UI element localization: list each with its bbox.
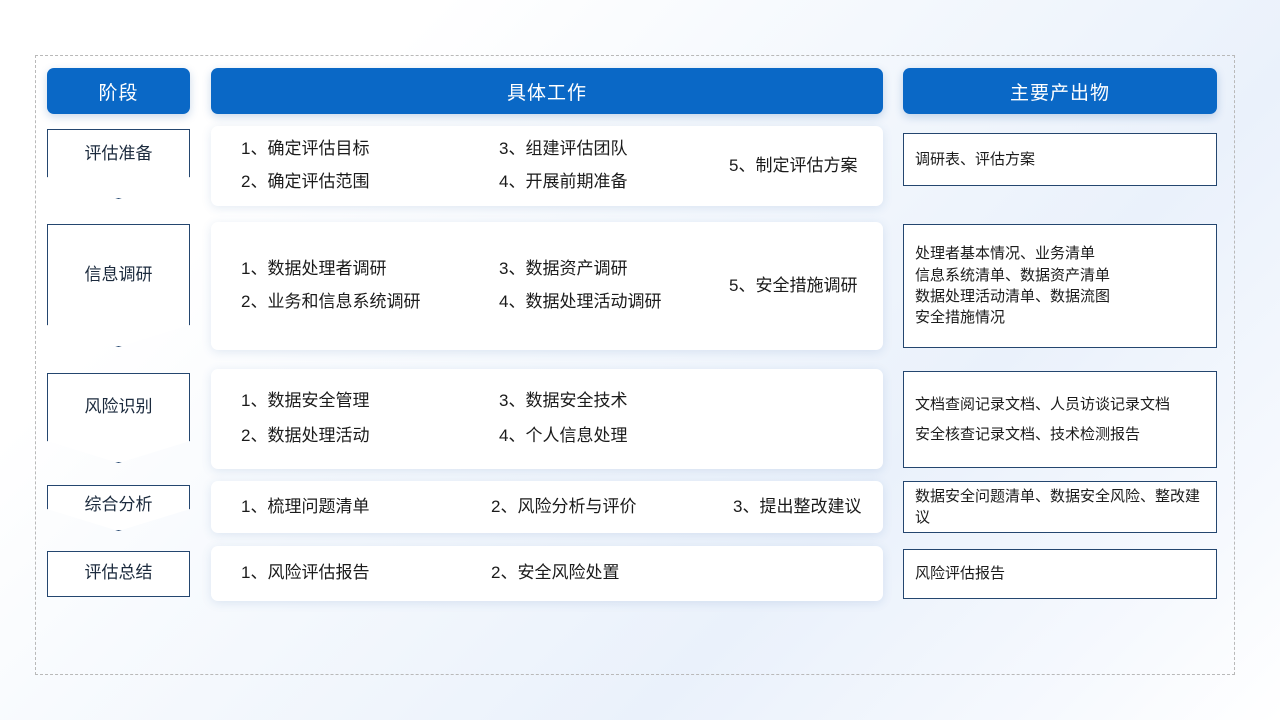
work-item: 4、数据处理活动调研 <box>499 290 721 315</box>
header-stage: 阶段 <box>47 68 190 114</box>
work-card-4: 1、梳理问题清单 2、风险分析与评价 3、提出整改建议 <box>211 481 883 533</box>
output-text: 风险评估报告 <box>915 563 1005 584</box>
work-item: 3、提出整改建议 <box>733 495 883 520</box>
work-item: 1、确定评估目标 <box>241 137 499 162</box>
work-item: 3、数据资产调研 <box>499 257 721 282</box>
work-item: 2、安全风险处置 <box>491 561 883 586</box>
work-item: 5、制定评估方案 <box>721 154 883 179</box>
output-box-3: 文档查阅记录文档、人员访谈记录文档 安全核查记录文档、技术检测报告 <box>903 371 1217 468</box>
work-item: 3、数据安全技术 <box>499 389 883 414</box>
stage-label-2: 信息调研 <box>85 224 153 283</box>
slide-canvas: 阶段 具体工作 主要产出物 评估准备 信息调研 风险识别 综合分析 评估总结 1… <box>0 0 1280 720</box>
stage-box-2: 信息调研 <box>47 224 190 347</box>
work-item: 4、开展前期准备 <box>499 170 721 195</box>
work-card-1: 1、确定评估目标 2、确定评估范围 3、组建评估团队 4、开展前期准备 5、制定… <box>211 126 883 206</box>
work-item: 1、数据安全管理 <box>241 389 499 414</box>
work-grid-2: 1、数据处理者调研 2、业务和信息系统调研 3、数据资产调研 4、数据处理活动调… <box>211 222 883 350</box>
output-box-4: 数据安全问题清单、数据安全风险、整改建议 <box>903 481 1217 533</box>
work-item: 1、风险评估报告 <box>241 561 491 586</box>
header-work: 具体工作 <box>211 68 883 114</box>
header-output: 主要产出物 <box>903 68 1217 114</box>
header-work-label: 具体工作 <box>507 78 587 105</box>
work-card-3: 1、数据安全管理 3、数据安全技术 2、数据处理活动 4、个人信息处理 <box>211 369 883 469</box>
work-item: 3、组建评估团队 <box>499 137 721 162</box>
stage-label-1: 评估准备 <box>85 129 153 162</box>
output-box-2: 处理者基本情况、业务清单 信息系统清单、数据资产清单 数据处理活动清单、数据流图… <box>903 224 1217 348</box>
work-grid-4: 1、梳理问题清单 2、风险分析与评价 3、提出整改建议 <box>211 481 883 533</box>
output-text: 数据安全问题清单、数据安全风险、整改建议 <box>915 486 1205 529</box>
output-text: 处理者基本情况、业务清单 信息系统清单、数据资产清单 数据处理活动清单、数据流图… <box>915 243 1110 328</box>
work-grid-5: 1、风险评估报告 2、安全风险处置 <box>211 546 883 601</box>
header-output-label: 主要产出物 <box>1010 78 1110 105</box>
work-item: 5、安全措施调研 <box>721 274 883 299</box>
output-box-5: 风险评估报告 <box>903 549 1217 599</box>
header-stage-label: 阶段 <box>98 78 138 105</box>
work-item: 2、数据处理活动 <box>241 424 499 449</box>
output-box-1: 调研表、评估方案 <box>903 133 1217 186</box>
output-text: 调研表、评估方案 <box>915 149 1035 170</box>
stage-box-3: 风险识别 <box>47 373 190 463</box>
stage-box-4: 综合分析 <box>47 485 190 531</box>
work-item: 2、确定评估范围 <box>241 170 499 195</box>
work-item: 1、数据处理者调研 <box>241 257 499 282</box>
stage-label-5: 评估总结 <box>85 551 153 581</box>
work-grid-3: 1、数据安全管理 3、数据安全技术 2、数据处理活动 4、个人信息处理 <box>211 369 883 469</box>
work-card-5: 1、风险评估报告 2、安全风险处置 <box>211 546 883 601</box>
stage-label-3: 风险识别 <box>85 373 153 415</box>
work-card-2: 1、数据处理者调研 2、业务和信息系统调研 3、数据资产调研 4、数据处理活动调… <box>211 222 883 350</box>
work-item: 4、个人信息处理 <box>499 424 883 449</box>
output-text: 安全核查记录文档、技术检测报告 <box>915 424 1205 445</box>
stage-box-5: 评估总结 <box>47 551 190 597</box>
work-item: 2、业务和信息系统调研 <box>241 290 499 315</box>
output-text: 文档查阅记录文档、人员访谈记录文档 <box>915 394 1205 415</box>
stage-box-1: 评估准备 <box>47 129 190 199</box>
stage-label-4: 综合分析 <box>85 485 153 513</box>
work-item: 1、梳理问题清单 <box>241 495 491 520</box>
work-grid-1: 1、确定评估目标 2、确定评估范围 3、组建评估团队 4、开展前期准备 5、制定… <box>211 126 883 206</box>
work-item: 2、风险分析与评价 <box>491 495 733 520</box>
